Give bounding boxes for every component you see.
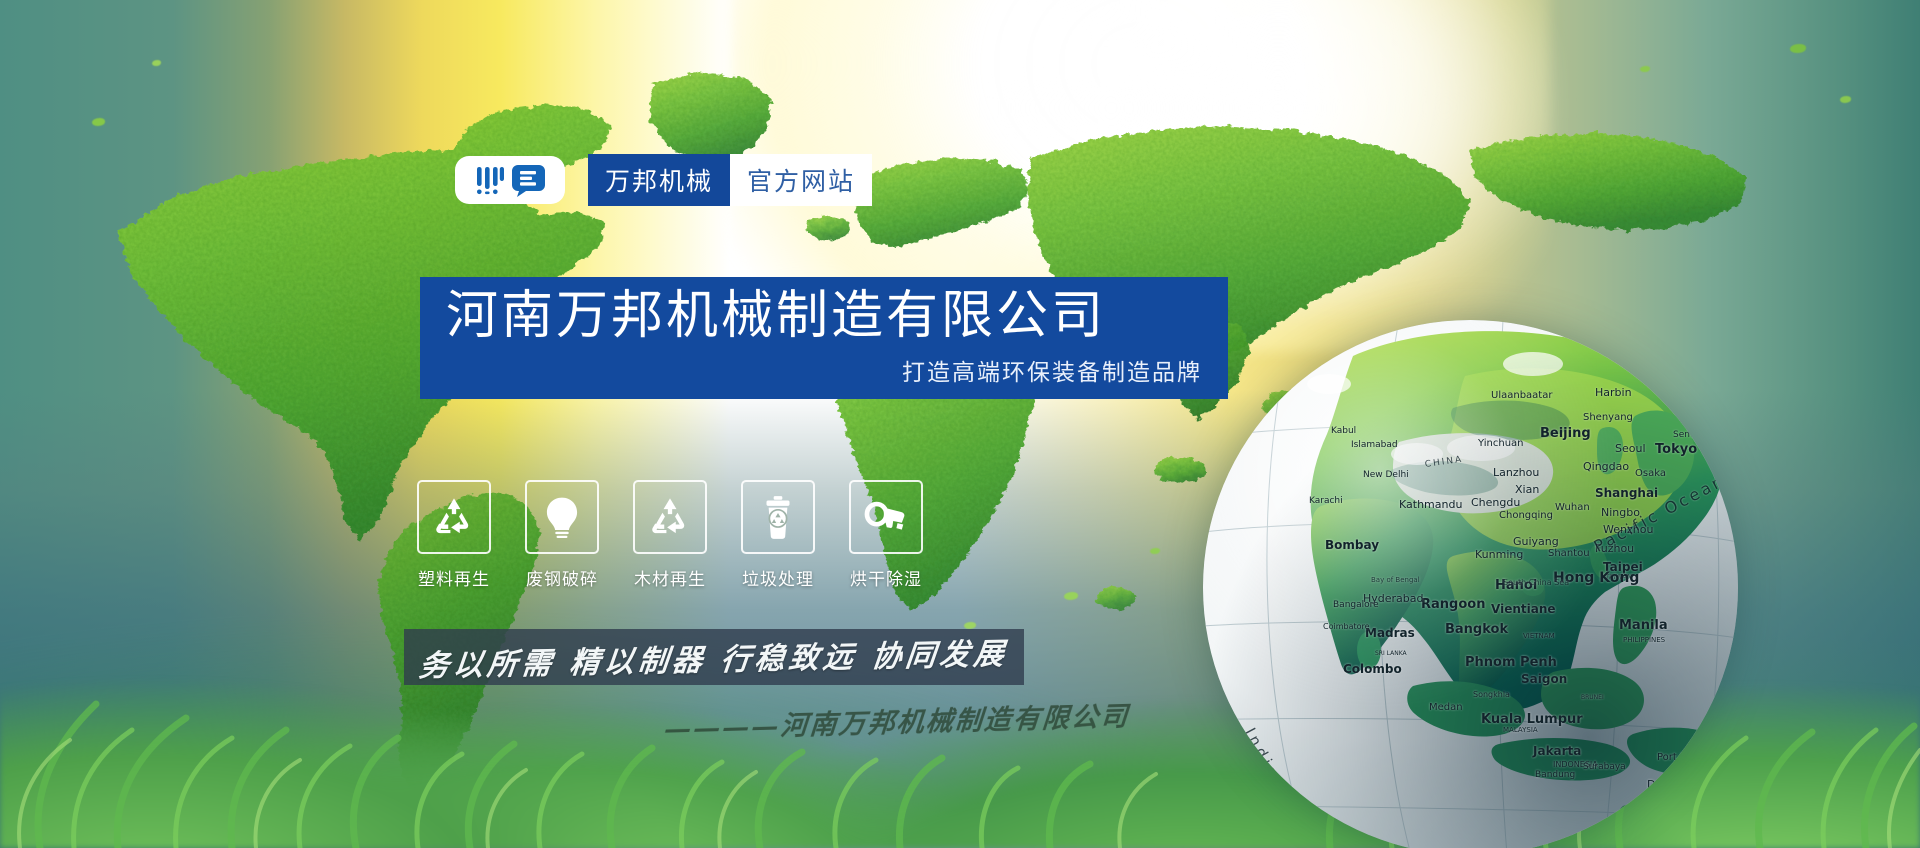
- feature-label: 废钢破碎: [526, 565, 598, 590]
- lightbulb-icon: [539, 494, 585, 540]
- dryer-blower-icon: [863, 494, 909, 540]
- feature-icon-box[interactable]: [417, 480, 491, 554]
- feature-icon-box[interactable]: [633, 480, 707, 554]
- feature-label: 垃圾处理: [742, 565, 814, 590]
- tab-company-name[interactable]: 万邦机械: [588, 154, 730, 206]
- page-subtitle: 打造高端环保装备制造品牌: [446, 353, 1202, 387]
- feature-icon-row: 塑料再生 废钢破碎 木材再生: [417, 480, 923, 590]
- feature-item-wood-recycling[interactable]: 木材再生: [633, 480, 707, 590]
- feature-item-drying-dehumidifying[interactable]: 烘干除湿: [849, 480, 923, 590]
- feature-item-plastic-recycling[interactable]: 塑料再生: [417, 480, 491, 590]
- slogan-text: 务以所需 精以制器 行稳致远 协同发展: [417, 629, 1010, 685]
- recycle-icon: [647, 494, 693, 540]
- globe-3d-earth: UlaanbaatarBeijingYinchuanLanzhouXianQin…: [1203, 320, 1738, 848]
- logo-e-speech-bubble-icon: [512, 164, 545, 197]
- feature-icon-box[interactable]: [849, 480, 923, 554]
- company-logo-badge[interactable]: [455, 156, 565, 204]
- feature-icon-box[interactable]: [525, 480, 599, 554]
- feature-label: 塑料再生: [418, 565, 490, 590]
- feature-label: 木材再生: [634, 565, 706, 590]
- logo-w-mark-icon: [476, 165, 505, 195]
- page-title: 河南万邦机械制造有限公司: [446, 289, 1202, 344]
- recycle-icon: [431, 494, 477, 540]
- feature-label: 烘干除湿: [850, 565, 922, 590]
- header-title-tabs: 万邦机械 官方网站: [588, 154, 872, 206]
- feature-item-scrap-steel-crushing[interactable]: 废钢破碎: [525, 480, 599, 590]
- feature-icon-box[interactable]: [741, 480, 815, 554]
- main-title-banner: 河南万邦机械制造有限公司 打造高端环保装备制造品牌: [420, 277, 1228, 399]
- trash-bin-recycle-icon: [755, 494, 801, 540]
- feature-item-waste-treatment[interactable]: 垃圾处理: [741, 480, 815, 590]
- site-header-logo-row[interactable]: 万邦机械 官方网站: [455, 154, 872, 206]
- tab-official-site[interactable]: 官方网站: [730, 154, 872, 206]
- hero-banner-stage: UlaanbaatarBeijingYinchuanLanzhouXianQin…: [0, 0, 1920, 848]
- slogan-ribbon: 务以所需 精以制器 行稳致远 协同发展: [404, 629, 1024, 685]
